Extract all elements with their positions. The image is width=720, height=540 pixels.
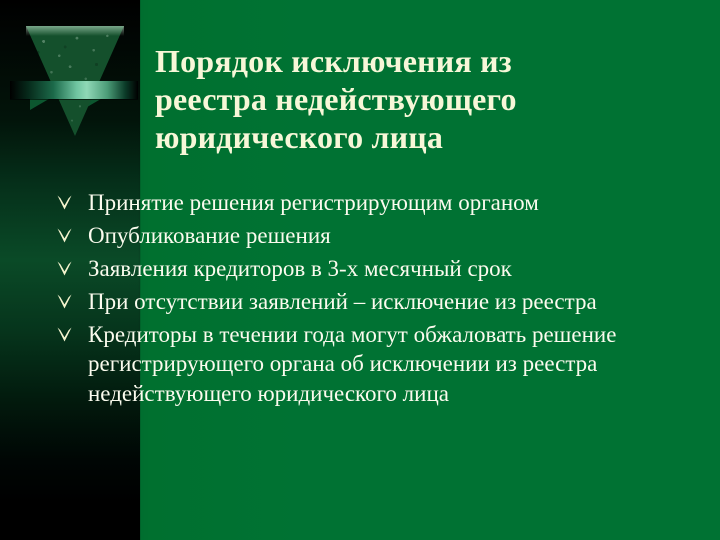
bullet-list: Принятие решения регистрирующим органом …: [52, 188, 682, 412]
chevron-down-bullet-icon: [56, 227, 73, 244]
inverted-triangle-emblem-icon: [8, 20, 140, 140]
list-item-label: Заявления кредиторов в 3-х месячный срок: [88, 256, 512, 281]
chevron-down-bullet-icon: [56, 326, 73, 343]
list-item-label: Опубликование решения: [88, 223, 331, 248]
list-item: Кредиторы в течении года могут обжаловат…: [52, 320, 682, 410]
list-item: Заявления кредиторов в 3-х месячный срок: [52, 254, 682, 284]
chevron-down-bullet-icon: [56, 194, 73, 211]
list-item: Опубликование решения: [52, 221, 682, 251]
list-item: При отсутствии заявлений – исключение из…: [52, 287, 682, 317]
list-item-label: При отсутствии заявлений – исключение из…: [88, 289, 597, 314]
presentation-slide: Порядок исключения из реестра недействую…: [0, 0, 720, 540]
emblem-triangle-highlight: [26, 26, 124, 36]
chevron-down-bullet-icon: [56, 293, 73, 310]
chevron-down-bullet-icon: [56, 260, 73, 277]
emblem-horizontal-bar-icon: [10, 81, 138, 99]
list-item-label: Кредиторы в течении года могут обжаловат…: [88, 322, 616, 407]
list-item-label: Принятие решения регистрирующим органом: [88, 190, 539, 215]
slide-title: Порядок исключения из реестра недействую…: [155, 43, 700, 156]
list-item: Принятие решения регистрирующим органом: [52, 188, 682, 218]
